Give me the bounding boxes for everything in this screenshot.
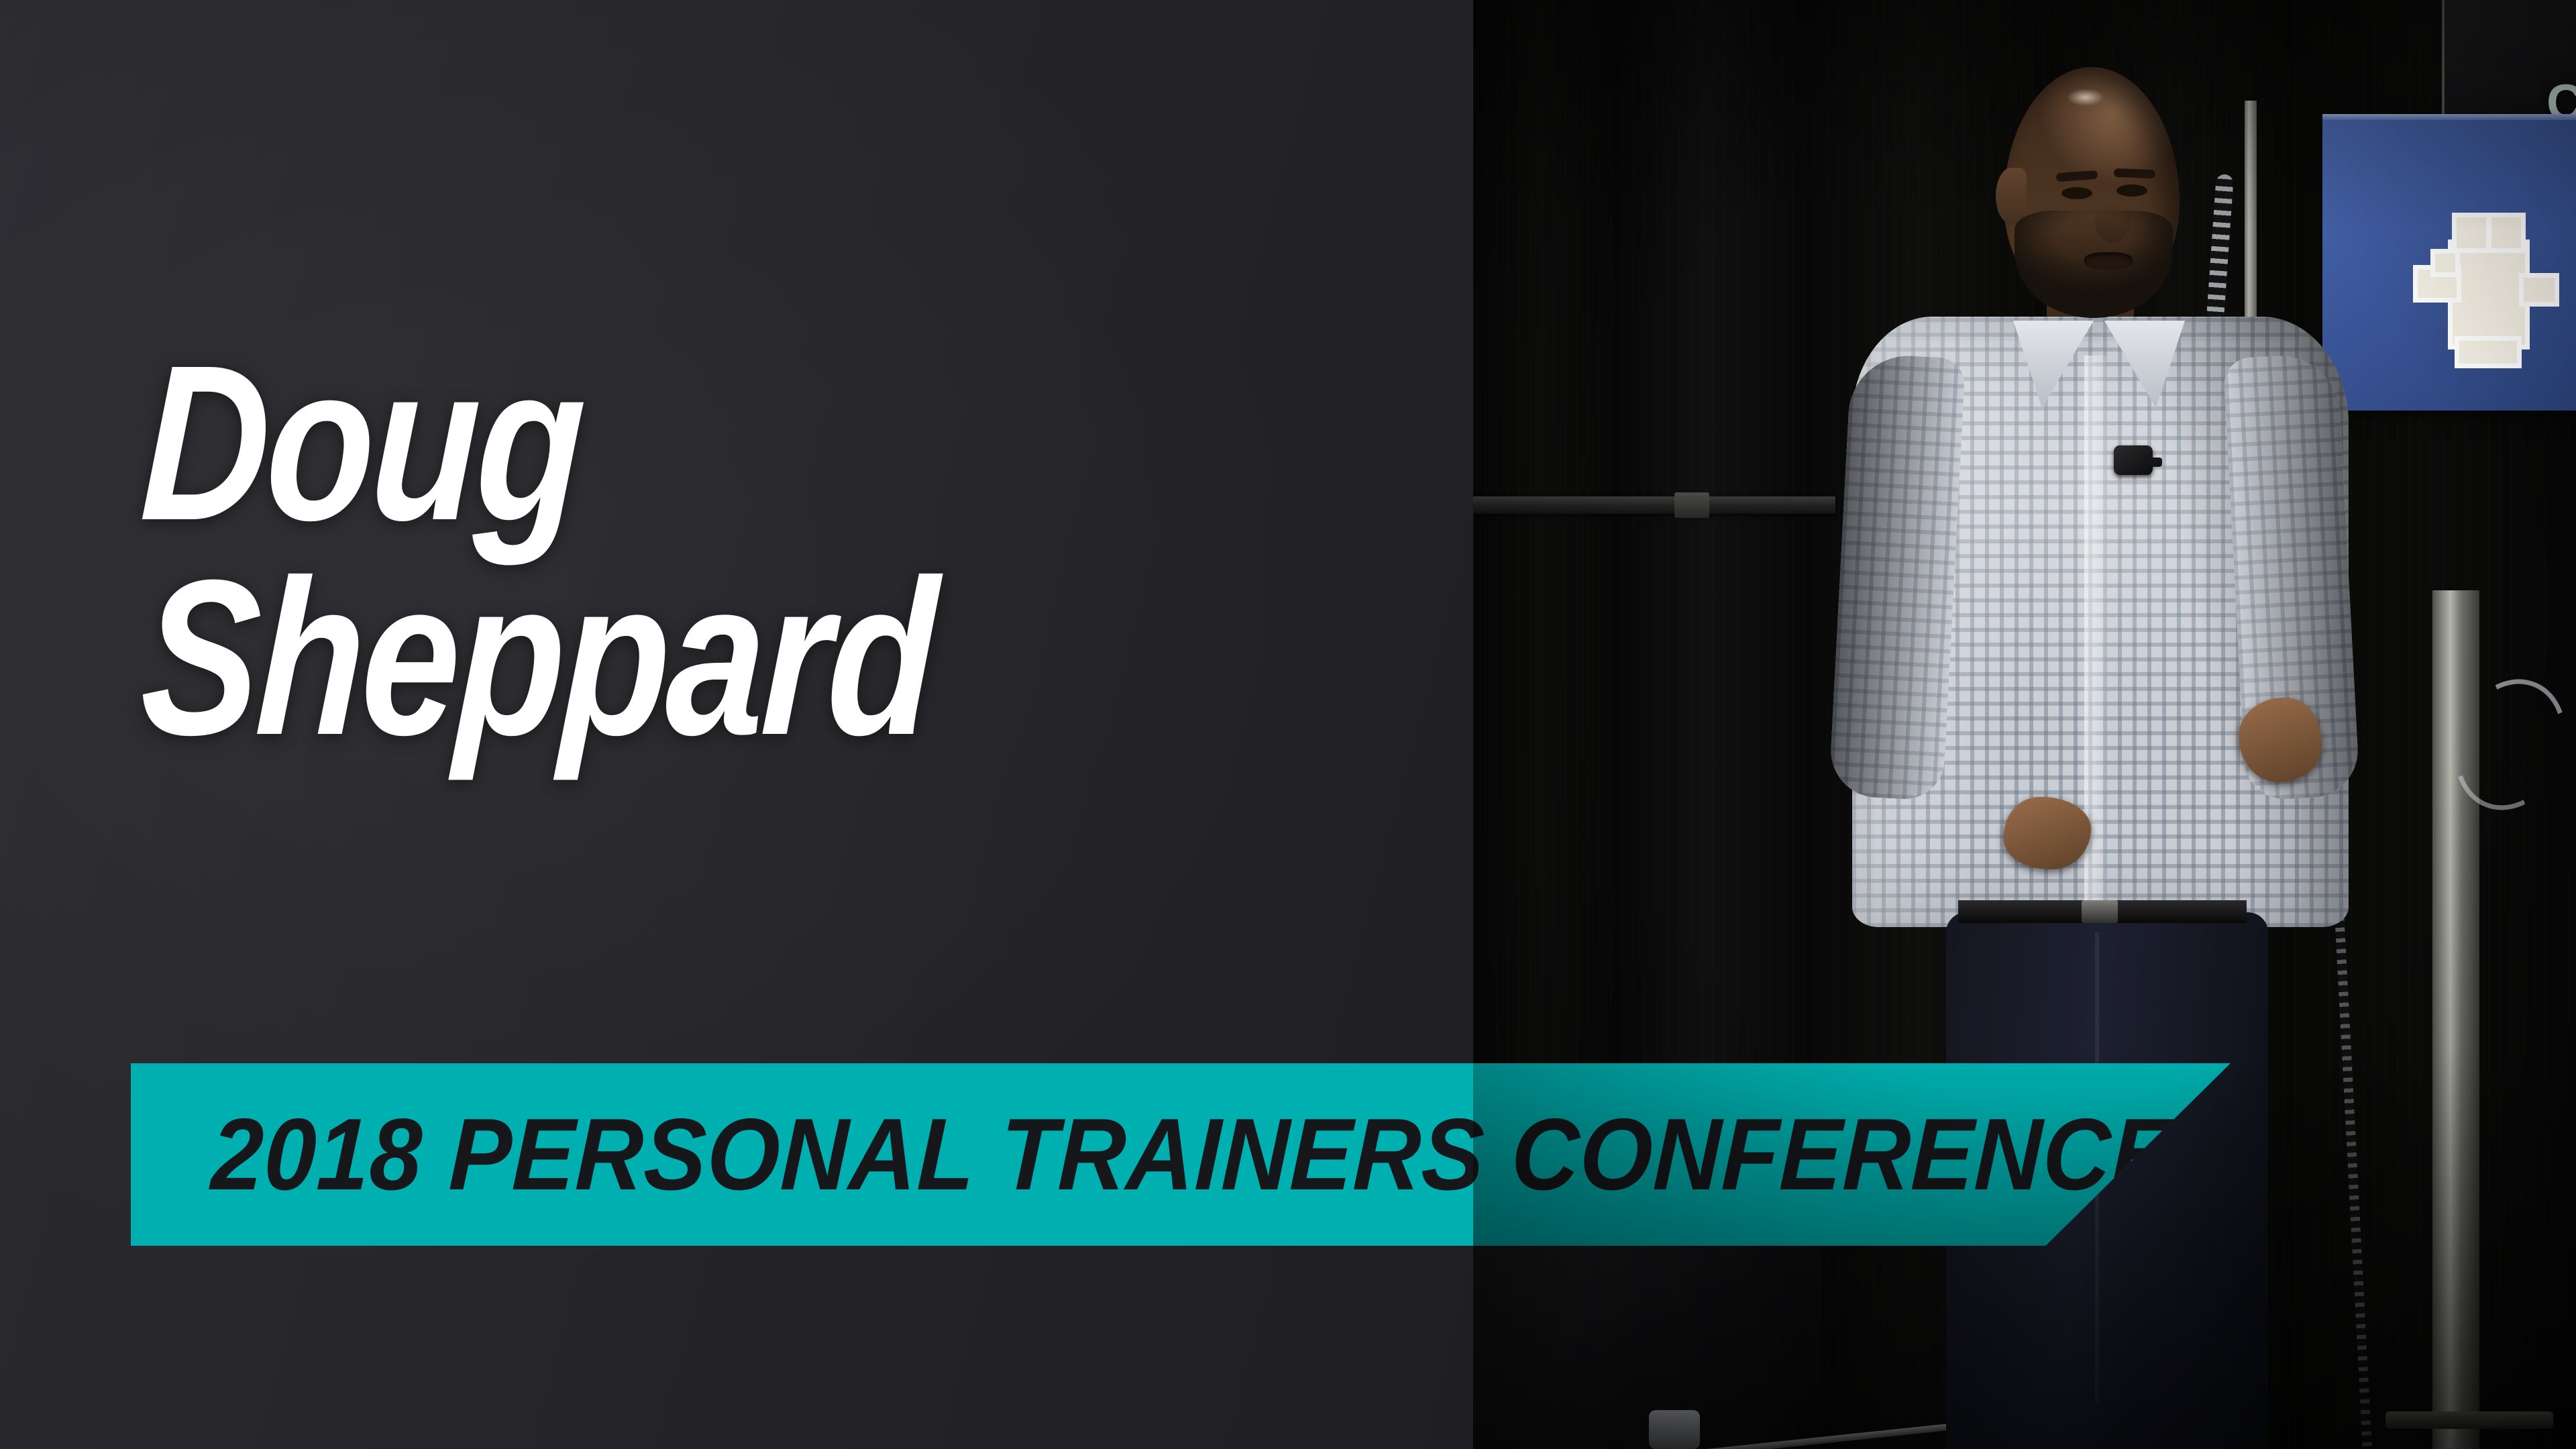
stage-rail-clip bbox=[1674, 492, 1709, 518]
blue-sign-top-edge bbox=[2322, 114, 2576, 120]
eye-left bbox=[2061, 187, 2092, 199]
belt-buckle bbox=[2082, 900, 2118, 923]
lavalier-mic-clip bbox=[2145, 458, 2162, 467]
floor-stand-knob bbox=[1649, 1410, 1700, 1449]
blue-stage-sign bbox=[2322, 114, 2576, 411]
speaker-ear bbox=[1996, 168, 2027, 224]
event-banner: 2018 PERSONAL TRAINERS CONFERENCE bbox=[131, 1063, 2231, 1246]
speaker-right-hand bbox=[2239, 698, 2322, 782]
speaker-mouth bbox=[2084, 252, 2133, 270]
speaker-left-hand bbox=[2004, 797, 2091, 869]
stage-pole-base bbox=[2385, 1411, 2553, 1429]
event-banner-label: 2018 PERSONAL TRAINERS CONFERENCE bbox=[210, 1104, 2176, 1205]
eyebrow-right bbox=[2114, 168, 2155, 178]
page-title: Doug Sheppard bbox=[142, 335, 1131, 765]
eye-right bbox=[2116, 184, 2147, 197]
blue-sign-logo-icon bbox=[2418, 213, 2542, 364]
speaker-title-slide: C bbox=[0, 0, 2576, 1449]
head-highlight bbox=[2067, 89, 2104, 106]
speaker-last-name: Sheppard bbox=[138, 550, 938, 765]
speaker-left-arm bbox=[1829, 353, 1966, 801]
stage-rail bbox=[1473, 496, 1835, 514]
speaker-first-name: Doug bbox=[138, 335, 938, 550]
